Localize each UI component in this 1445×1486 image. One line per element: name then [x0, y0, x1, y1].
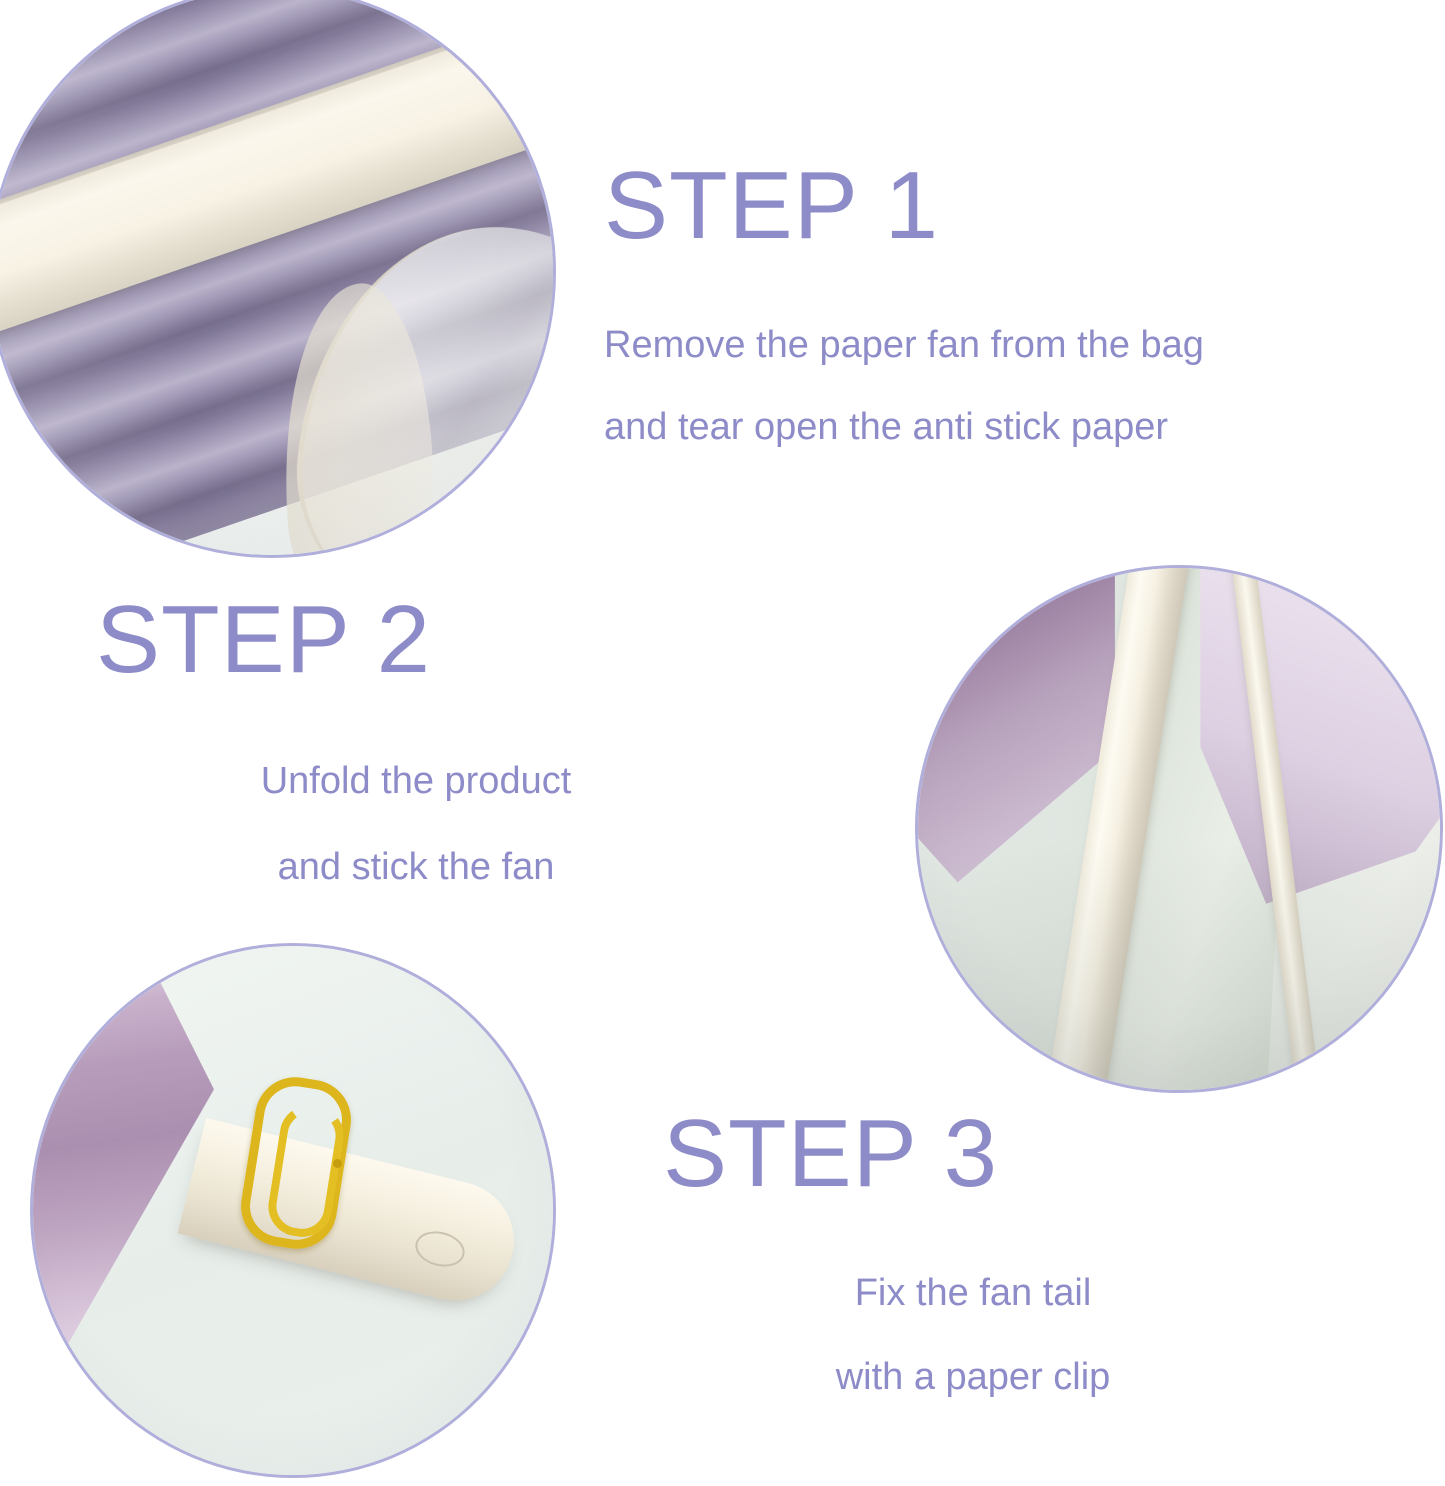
step-1-description-line-1: Remove the paper fan from the bag [604, 326, 1204, 364]
step-3-description-line-2: with a paper clip [663, 1358, 1283, 1396]
step-2-title: STEP 2 [96, 592, 736, 688]
step-2-text-block: STEP 2 Unfold the product and stick the … [96, 592, 736, 886]
step-2-photo [915, 565, 1443, 1093]
step-2-description-line-2: and stick the fan [96, 848, 736, 886]
step-3-title: STEP 3 [663, 1106, 1283, 1202]
step-2-description-line-1: Unfold the product [96, 762, 736, 800]
photo-vignette [30, 943, 556, 1478]
step-3-photo [30, 943, 556, 1478]
infographic-canvas: STEP 1 Remove the paper fan from the bag… [0, 0, 1445, 1486]
step-1-description-line-2: and tear open the anti stick paper [604, 408, 1204, 446]
step-1-photo-circle [0, 0, 556, 558]
step-2-photo-circle [915, 565, 1443, 1093]
step-1-text-block: STEP 1 Remove the paper fan from the bag… [604, 158, 1204, 446]
photo-vignette [0, 0, 556, 558]
step-1-photo [0, 0, 556, 558]
photo-vignette [915, 565, 1443, 1093]
step-3-description-line-1: Fix the fan tail [663, 1274, 1283, 1312]
step-1-title: STEP 1 [604, 158, 1204, 254]
step-3-photo-circle [30, 943, 556, 1478]
step-3-text-block: STEP 3 Fix the fan tail with a paper cli… [663, 1106, 1283, 1396]
